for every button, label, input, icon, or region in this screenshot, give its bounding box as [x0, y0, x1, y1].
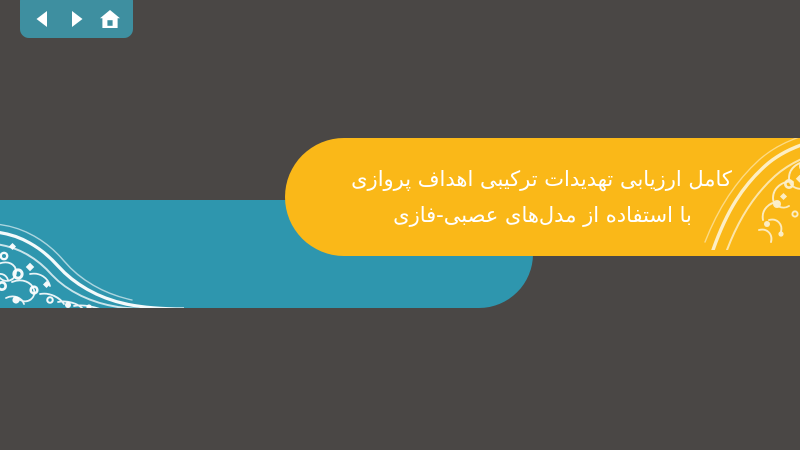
home-icon [99, 9, 121, 30]
presentation-slide: کامل ارزیابی تهدیدات ترکیبی اهداف پروازی… [0, 0, 800, 450]
previous-button[interactable] [30, 7, 56, 31]
arabesque-ornament-icon [673, 138, 800, 250]
navigation-bar [20, 0, 133, 38]
triangle-right-icon [66, 9, 86, 29]
next-button[interactable] [63, 7, 89, 31]
triangle-left-icon [33, 9, 53, 29]
arabesque-ornament-icon [0, 214, 184, 308]
title-panel [285, 138, 800, 256]
home-button[interactable] [97, 7, 123, 31]
